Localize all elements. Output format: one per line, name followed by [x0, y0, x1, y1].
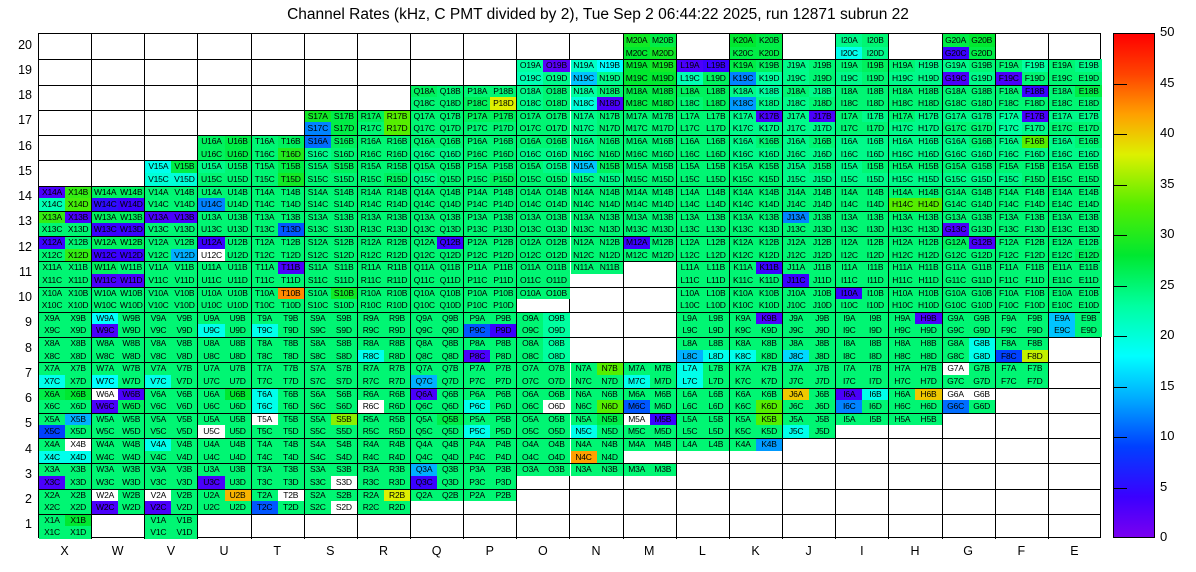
heatmap-quadrant[interactable]: L12A: [677, 236, 703, 249]
heatmap-quadrant[interactable]: H10D: [915, 299, 941, 312]
heatmap-quadrant[interactable]: [517, 47, 543, 60]
heatmap-quadrant[interactable]: I16B: [862, 135, 888, 148]
heatmap-quadrant[interactable]: K5C: [730, 425, 756, 438]
heatmap-quadrant[interactable]: [39, 135, 65, 148]
heatmap-quadrant[interactable]: [411, 59, 437, 72]
heatmap-quadrant[interactable]: [358, 72, 384, 85]
heatmap-quadrant[interactable]: W14B: [118, 186, 144, 199]
heatmap-quadrant[interactable]: [198, 85, 224, 98]
heatmap-quadrant[interactable]: H17A: [889, 110, 915, 123]
heatmap-cell[interactable]: W12AW12BW12CW12D: [92, 236, 145, 261]
heatmap-quadrant[interactable]: [225, 110, 251, 123]
heatmap-quadrant[interactable]: N18C: [571, 97, 597, 110]
heatmap-quadrant[interactable]: M7A: [624, 362, 650, 375]
heatmap-quadrant[interactable]: [331, 85, 357, 98]
heatmap-quadrant[interactable]: [490, 34, 516, 47]
heatmap-quadrant[interactable]: [1049, 526, 1076, 539]
heatmap-quadrant[interactable]: Q13C: [411, 223, 437, 236]
heatmap-quadrant[interactable]: O11C: [517, 274, 543, 287]
heatmap-quadrant[interactable]: X8C: [39, 350, 65, 363]
heatmap-quadrant[interactable]: P12A: [464, 236, 490, 249]
heatmap-cell[interactable]: K18AK18BK18CK18D: [730, 85, 783, 110]
heatmap-quadrant[interactable]: U6B: [225, 388, 251, 401]
heatmap-quadrant[interactable]: [1075, 526, 1102, 539]
heatmap-quadrant[interactable]: [862, 438, 888, 451]
heatmap-quadrant[interactable]: [118, 72, 144, 85]
heatmap-cell[interactable]: L7AL7BL7CL7D: [677, 362, 730, 387]
heatmap-quadrant[interactable]: [756, 501, 782, 514]
heatmap-quadrant[interactable]: [624, 451, 650, 464]
heatmap-quadrant[interactable]: Q9A: [411, 312, 437, 325]
heatmap-quadrant[interactable]: W9C: [92, 324, 118, 337]
heatmap-quadrant[interactable]: X12C: [39, 249, 65, 262]
heatmap-quadrant[interactable]: X2D: [65, 501, 91, 514]
heatmap-quadrant[interactable]: [996, 413, 1022, 426]
heatmap-quadrant[interactable]: W14A: [92, 186, 118, 199]
heatmap-cell[interactable]: [836, 438, 889, 463]
heatmap-quadrant[interactable]: W5B: [118, 413, 144, 426]
heatmap-quadrant[interactable]: [225, 85, 251, 98]
heatmap-quadrant[interactable]: P6B: [490, 388, 516, 401]
heatmap-quadrant[interactable]: [1049, 388, 1076, 401]
heatmap-quadrant[interactable]: U4A: [198, 438, 224, 451]
heatmap-cell[interactable]: [943, 463, 996, 488]
heatmap-quadrant[interactable]: Q3A: [411, 463, 437, 476]
heatmap-quadrant[interactable]: Q10A: [411, 287, 437, 300]
heatmap-cell[interactable]: F16AF16BF16CF16D: [996, 135, 1049, 160]
heatmap-cell[interactable]: K20AK20BK20CK20D: [730, 34, 783, 59]
heatmap-quadrant[interactable]: E17A: [1049, 110, 1076, 123]
heatmap-quadrant[interactable]: Q18B: [437, 85, 463, 98]
heatmap-quadrant[interactable]: F9D: [1022, 324, 1048, 337]
heatmap-quadrant[interactable]: [650, 514, 676, 527]
heatmap-quadrant[interactable]: R13A: [358, 211, 384, 224]
heatmap-quadrant[interactable]: O6B: [543, 388, 569, 401]
heatmap-quadrant[interactable]: Q9C: [411, 324, 437, 337]
heatmap-quadrant[interactable]: G11B: [969, 261, 995, 274]
heatmap-quadrant[interactable]: H5B: [915, 413, 941, 426]
heatmap-quadrant[interactable]: J14D: [809, 198, 835, 211]
heatmap-quadrant[interactable]: [809, 438, 835, 451]
heatmap-quadrant[interactable]: F19A: [996, 59, 1022, 72]
heatmap-quadrant[interactable]: K10C: [730, 299, 756, 312]
heatmap-cell[interactable]: [889, 34, 942, 59]
heatmap-quadrant[interactable]: [703, 489, 729, 502]
heatmap-quadrant[interactable]: E15D: [1075, 173, 1102, 186]
heatmap-cell[interactable]: J11AJ11BJ11CJ11D: [783, 261, 836, 286]
heatmap-quadrant[interactable]: V9B: [171, 312, 197, 325]
heatmap-quadrant[interactable]: K16D: [756, 148, 782, 161]
heatmap-quadrant[interactable]: H10A: [889, 287, 915, 300]
heatmap-cell[interactable]: [411, 34, 464, 59]
heatmap-quadrant[interactable]: E12C: [1049, 249, 1076, 262]
heatmap-quadrant[interactable]: V5A: [145, 413, 171, 426]
heatmap-quadrant[interactable]: [517, 476, 543, 489]
heatmap-quadrant[interactable]: [39, 47, 65, 60]
heatmap-quadrant[interactable]: N12B: [597, 236, 623, 249]
heatmap-quadrant[interactable]: O10B: [543, 287, 569, 300]
heatmap-quadrant[interactable]: H15A: [889, 160, 915, 173]
heatmap-quadrant[interactable]: [889, 514, 915, 527]
heatmap-quadrant[interactable]: W4C: [92, 451, 118, 464]
heatmap-cell[interactable]: L14AL14BL14CL14D: [677, 186, 730, 211]
heatmap-quadrant[interactable]: [809, 501, 835, 514]
heatmap-quadrant[interactable]: S17A: [305, 110, 331, 123]
heatmap-quadrant[interactable]: X10A: [39, 287, 65, 300]
heatmap-quadrant[interactable]: Q11C: [411, 274, 437, 287]
heatmap-quadrant[interactable]: U7C: [198, 375, 224, 388]
heatmap-quadrant[interactable]: H12B: [915, 236, 941, 249]
heatmap-quadrant[interactable]: E12D: [1075, 249, 1102, 262]
heatmap-quadrant[interactable]: T5D: [278, 425, 304, 438]
heatmap-quadrant[interactable]: X5D: [65, 425, 91, 438]
heatmap-quadrant[interactable]: P17D: [490, 122, 516, 135]
heatmap-quadrant[interactable]: [624, 287, 650, 300]
heatmap-quadrant[interactable]: [437, 59, 463, 72]
heatmap-quadrant[interactable]: T8D: [278, 350, 304, 363]
heatmap-cell[interactable]: I15AI15BI15CI15D: [836, 160, 889, 185]
heatmap-quadrant[interactable]: [118, 34, 144, 47]
heatmap-quadrant[interactable]: [650, 274, 676, 287]
heatmap-cell[interactable]: [252, 59, 305, 84]
heatmap-quadrant[interactable]: S6A: [305, 388, 331, 401]
heatmap-quadrant[interactable]: H17C: [889, 122, 915, 135]
heatmap-cell[interactable]: M19AM19BM19CM19D: [624, 59, 677, 84]
heatmap-quadrant[interactable]: T8B: [278, 337, 304, 350]
heatmap-quadrant[interactable]: Q7B: [437, 362, 463, 375]
heatmap-quadrant[interactable]: V11A: [145, 261, 171, 274]
heatmap-cell[interactable]: L18AL18BL18CL18D: [677, 85, 730, 110]
heatmap-quadrant[interactable]: E16C: [1049, 148, 1076, 161]
heatmap-quadrant[interactable]: I11D: [862, 274, 888, 287]
heatmap-quadrant[interactable]: M12C: [624, 249, 650, 262]
heatmap-quadrant[interactable]: V6C: [145, 400, 171, 413]
heatmap-quadrant[interactable]: G13C: [943, 223, 969, 236]
heatmap-quadrant[interactable]: U3A: [198, 463, 224, 476]
heatmap-quadrant[interactable]: M20A: [624, 34, 650, 47]
heatmap-quadrant[interactable]: N4D: [597, 451, 623, 464]
heatmap-quadrant[interactable]: E14A: [1049, 186, 1076, 199]
heatmap-quadrant[interactable]: N12A: [571, 236, 597, 249]
heatmap-quadrant[interactable]: [464, 34, 490, 47]
heatmap-quadrant[interactable]: N13C: [571, 223, 597, 236]
heatmap-quadrant[interactable]: U13A: [198, 211, 224, 224]
heatmap-quadrant[interactable]: [118, 59, 144, 72]
heatmap-quadrant[interactable]: M6C: [624, 400, 650, 413]
heatmap-quadrant[interactable]: X3D: [65, 476, 91, 489]
heatmap-quadrant[interactable]: M14B: [650, 186, 676, 199]
heatmap-cell[interactable]: [996, 388, 1049, 413]
heatmap-quadrant[interactable]: M20D: [650, 47, 676, 60]
heatmap-quadrant[interactable]: E10D: [1075, 299, 1102, 312]
heatmap-cell[interactable]: N11AN11B: [571, 261, 624, 286]
heatmap-quadrant[interactable]: I17C: [836, 122, 862, 135]
heatmap-quadrant[interactable]: Q15D: [437, 173, 463, 186]
heatmap-quadrant[interactable]: L15D: [703, 173, 729, 186]
heatmap-quadrant[interactable]: P16B: [490, 135, 516, 148]
heatmap-quadrant[interactable]: [996, 425, 1022, 438]
heatmap-quadrant[interactable]: J18B: [809, 85, 835, 98]
heatmap-quadrant[interactable]: V4B: [171, 438, 197, 451]
heatmap-quadrant[interactable]: V15A: [145, 160, 171, 173]
heatmap-cell[interactable]: L11AL11BL11CL11D: [677, 261, 730, 286]
heatmap-cell[interactable]: I10AI10BI10CI10D: [836, 287, 889, 312]
heatmap-quadrant[interactable]: H8B: [915, 337, 941, 350]
heatmap-cell[interactable]: [1049, 337, 1102, 362]
heatmap-cell[interactable]: O13AO13BO13CO13D: [517, 211, 570, 236]
heatmap-quadrant[interactable]: N18D: [597, 97, 623, 110]
heatmap-quadrant[interactable]: E18A: [1049, 85, 1076, 98]
heatmap-quadrant[interactable]: E10B: [1075, 287, 1102, 300]
heatmap-cell[interactable]: [1049, 362, 1102, 387]
heatmap-quadrant[interactable]: [118, 160, 144, 173]
heatmap-cell[interactable]: T7AT7BT7CT7D: [252, 362, 305, 387]
heatmap-cell[interactable]: Q14AQ14BQ14CQ14D: [411, 186, 464, 211]
heatmap-cell[interactable]: F17AF17BF17CF17D: [996, 110, 1049, 135]
heatmap-quadrant[interactable]: J19B: [809, 59, 835, 72]
heatmap-quadrant[interactable]: W7A: [92, 362, 118, 375]
heatmap-quadrant[interactable]: T9C: [252, 324, 278, 337]
heatmap-quadrant[interactable]: V6A: [145, 388, 171, 401]
heatmap-quadrant[interactable]: S14B: [331, 186, 357, 199]
heatmap-cell[interactable]: G7AG7BG7CG7D: [943, 362, 996, 387]
heatmap-quadrant[interactable]: [517, 501, 543, 514]
heatmap-quadrant[interactable]: K10B: [756, 287, 782, 300]
heatmap-quadrant[interactable]: I7C: [836, 375, 862, 388]
heatmap-quadrant[interactable]: Q14C: [411, 198, 437, 211]
heatmap-cell[interactable]: S10AS10BS10CS10D: [305, 287, 358, 312]
heatmap-quadrant[interactable]: [730, 463, 756, 476]
heatmap-quadrant[interactable]: V15C: [145, 173, 171, 186]
heatmap-quadrant[interactable]: L19C: [677, 72, 703, 85]
heatmap-quadrant[interactable]: R11A: [358, 261, 384, 274]
heatmap-cell[interactable]: H8AH8BH8CH8D: [889, 337, 942, 362]
heatmap-cell[interactable]: P12AP12BP12CP12D: [464, 236, 517, 261]
heatmap-quadrant[interactable]: L6D: [703, 400, 729, 413]
heatmap-quadrant[interactable]: E15A: [1049, 160, 1076, 173]
heatmap-quadrant[interactable]: U14A: [198, 186, 224, 199]
heatmap-quadrant[interactable]: X6C: [39, 400, 65, 413]
heatmap-cell[interactable]: W4AW4BW4CW4D: [92, 438, 145, 463]
heatmap-quadrant[interactable]: V8A: [145, 337, 171, 350]
heatmap-quadrant[interactable]: R2B: [384, 489, 410, 502]
heatmap-quadrant[interactable]: [650, 299, 676, 312]
heatmap-quadrant[interactable]: U15C: [198, 173, 224, 186]
heatmap-quadrant[interactable]: S5A: [305, 413, 331, 426]
heatmap-cell[interactable]: H13AH13BH13CH13D: [889, 211, 942, 236]
heatmap-quadrant[interactable]: U16D: [225, 148, 251, 161]
heatmap-quadrant[interactable]: [703, 514, 729, 527]
heatmap-cell[interactable]: R2AR2BR2CR2D: [358, 489, 411, 514]
heatmap-quadrant[interactable]: E11B: [1075, 261, 1102, 274]
heatmap-quadrant[interactable]: K13A: [730, 211, 756, 224]
heatmap-cell[interactable]: V5AV5BV5CV5D: [145, 413, 198, 438]
heatmap-quadrant[interactable]: J12B: [809, 236, 835, 249]
heatmap-cell[interactable]: [464, 34, 517, 59]
heatmap-quadrant[interactable]: [225, 514, 251, 527]
heatmap-quadrant[interactable]: L9B: [703, 312, 729, 325]
heatmap-cell[interactable]: N19AN19BN19CN19D: [571, 59, 624, 84]
heatmap-cell[interactable]: T4AT4BT4CT4D: [252, 438, 305, 463]
heatmap-quadrant[interactable]: P11A: [464, 261, 490, 274]
heatmap-quadrant[interactable]: [92, 160, 118, 173]
heatmap-quadrant[interactable]: K11A: [730, 261, 756, 274]
heatmap-quadrant[interactable]: P3B: [490, 463, 516, 476]
heatmap-quadrant[interactable]: M5D: [650, 425, 676, 438]
heatmap-cell[interactable]: P11AP11BP11CP11D: [464, 261, 517, 286]
heatmap-quadrant[interactable]: [783, 526, 809, 539]
heatmap-cell[interactable]: K10AK10BK10CK10D: [730, 287, 783, 312]
heatmap-quadrant[interactable]: K12D: [756, 249, 782, 262]
heatmap-quadrant[interactable]: [198, 72, 224, 85]
heatmap-quadrant[interactable]: N14C: [571, 198, 597, 211]
heatmap-quadrant[interactable]: [543, 47, 569, 60]
heatmap-quadrant[interactable]: H11D: [915, 274, 941, 287]
heatmap-quadrant[interactable]: P6A: [464, 388, 490, 401]
heatmap-cell[interactable]: V13AV13BV13CV13D: [145, 211, 198, 236]
heatmap-cell[interactable]: V3AV3BV3CV3D: [145, 463, 198, 488]
heatmap-quadrant[interactable]: [92, 97, 118, 110]
heatmap-cell[interactable]: G15AG15BG15CG15D: [943, 160, 996, 185]
heatmap-quadrant[interactable]: O17B: [543, 110, 569, 123]
heatmap-quadrant[interactable]: L10B: [703, 287, 729, 300]
heatmap-quadrant[interactable]: W6A: [92, 388, 118, 401]
heatmap-quadrant[interactable]: M18A: [624, 85, 650, 98]
heatmap-cell[interactable]: Q16AQ16BQ16CQ16D: [411, 135, 464, 160]
heatmap-quadrant[interactable]: I8C: [836, 350, 862, 363]
heatmap-quadrant[interactable]: J11A: [783, 261, 809, 274]
heatmap-quadrant[interactable]: Q6C: [411, 400, 437, 413]
heatmap-quadrant[interactable]: H15C: [889, 173, 915, 186]
heatmap-cell[interactable]: [305, 34, 358, 59]
heatmap-quadrant[interactable]: X4A: [39, 438, 65, 451]
heatmap-quadrant[interactable]: G19A: [943, 59, 969, 72]
heatmap-quadrant[interactable]: P16C: [464, 148, 490, 161]
heatmap-cell[interactable]: T14AT14BT14CT14D: [252, 186, 305, 211]
heatmap-quadrant[interactable]: R4C: [358, 451, 384, 464]
heatmap-cell[interactable]: V1AV1BV1CV1D: [145, 514, 198, 539]
heatmap-quadrant[interactable]: [1049, 501, 1076, 514]
heatmap-quadrant[interactable]: V8D: [171, 350, 197, 363]
heatmap-quadrant[interactable]: I18D: [862, 97, 888, 110]
heatmap-quadrant[interactable]: [809, 463, 835, 476]
heatmap-quadrant[interactable]: K17C: [730, 122, 756, 135]
heatmap-cell[interactable]: U9AU9BU9CU9D: [198, 312, 251, 337]
heatmap-cell[interactable]: U4AU4BU4CU4D: [198, 438, 251, 463]
heatmap-quadrant[interactable]: J8C: [783, 350, 809, 363]
heatmap-quadrant[interactable]: G9B: [969, 312, 995, 325]
heatmap-cell[interactable]: K13AK13BK13CK13D: [730, 211, 783, 236]
heatmap-quadrant[interactable]: O14D: [543, 198, 569, 211]
heatmap-cell[interactable]: [305, 514, 358, 539]
heatmap-quadrant[interactable]: Q10D: [437, 299, 463, 312]
heatmap-quadrant[interactable]: [92, 59, 118, 72]
heatmap-quadrant[interactable]: [1022, 400, 1048, 413]
heatmap-quadrant[interactable]: G7D: [969, 375, 995, 388]
heatmap-cell[interactable]: [39, 135, 92, 160]
heatmap-quadrant[interactable]: [171, 148, 197, 161]
heatmap-cell[interactable]: N15AN15BN15CN15D: [571, 160, 624, 185]
heatmap-quadrant[interactable]: F9C: [996, 324, 1022, 337]
heatmap-quadrant[interactable]: X9B: [65, 312, 91, 325]
heatmap-cell[interactable]: [783, 489, 836, 514]
heatmap-quadrant[interactable]: V10D: [171, 299, 197, 312]
heatmap-quadrant[interactable]: [411, 47, 437, 60]
heatmap-quadrant[interactable]: S15D: [331, 173, 357, 186]
heatmap-quadrant[interactable]: [384, 34, 410, 47]
heatmap-quadrant[interactable]: N17D: [597, 122, 623, 135]
heatmap-quadrant[interactable]: [756, 489, 782, 502]
heatmap-cell[interactable]: L10AL10BL10CL10D: [677, 287, 730, 312]
heatmap-cell[interactable]: F18AF18BF18CF18D: [996, 85, 1049, 110]
heatmap-quadrant[interactable]: L9C: [677, 324, 703, 337]
heatmap-cell[interactable]: Q2AQ2B: [411, 489, 464, 514]
heatmap-cell[interactable]: [624, 312, 677, 337]
heatmap-quadrant[interactable]: L7D: [703, 375, 729, 388]
heatmap-quadrant[interactable]: [624, 274, 650, 287]
heatmap-quadrant[interactable]: N12C: [571, 249, 597, 262]
heatmap-quadrant[interactable]: N11A: [571, 261, 597, 274]
heatmap-quadrant[interactable]: S6C: [305, 400, 331, 413]
heatmap-quadrant[interactable]: I19B: [862, 59, 888, 72]
heatmap-quadrant[interactable]: K18A: [730, 85, 756, 98]
heatmap-quadrant[interactable]: T9A: [252, 312, 278, 325]
heatmap-cell[interactable]: [358, 59, 411, 84]
heatmap-quadrant[interactable]: [1075, 476, 1102, 489]
heatmap-quadrant[interactable]: L6B: [703, 388, 729, 401]
heatmap-cell[interactable]: P14AP14BP14CP14D: [464, 186, 517, 211]
heatmap-quadrant[interactable]: [862, 425, 888, 438]
heatmap-quadrant[interactable]: [703, 526, 729, 539]
heatmap-quadrant[interactable]: K7B: [756, 362, 782, 375]
heatmap-quadrant[interactable]: T14A: [252, 186, 278, 199]
heatmap-quadrant[interactable]: W12A: [92, 236, 118, 249]
heatmap-quadrant[interactable]: [996, 501, 1022, 514]
heatmap-quadrant[interactable]: T6A: [252, 388, 278, 401]
heatmap-quadrant[interactable]: S4A: [305, 438, 331, 451]
heatmap-quadrant[interactable]: X6A: [39, 388, 65, 401]
heatmap-cell[interactable]: [252, 34, 305, 59]
heatmap-quadrant[interactable]: P15C: [464, 173, 490, 186]
heatmap-quadrant[interactable]: M19D: [650, 72, 676, 85]
heatmap-quadrant[interactable]: [1075, 362, 1102, 375]
heatmap-quadrant[interactable]: I16C: [836, 148, 862, 161]
heatmap-cell[interactable]: N16AN16BN16CN16D: [571, 135, 624, 160]
heatmap-quadrant[interactable]: H19C: [889, 72, 915, 85]
heatmap-cell[interactable]: F15AF15BF15CF15D: [996, 160, 1049, 185]
heatmap-quadrant[interactable]: O16A: [517, 135, 543, 148]
heatmap-quadrant[interactable]: O19A: [517, 59, 543, 72]
heatmap-quadrant[interactable]: I14B: [862, 186, 888, 199]
heatmap-cell[interactable]: [889, 463, 942, 488]
heatmap-quadrant[interactable]: E18D: [1075, 97, 1102, 110]
heatmap-quadrant[interactable]: [305, 47, 331, 60]
heatmap-quadrant[interactable]: L7A: [677, 362, 703, 375]
heatmap-quadrant[interactable]: G10D: [969, 299, 995, 312]
heatmap-quadrant[interactable]: H16B: [915, 135, 941, 148]
heatmap-quadrant[interactable]: P17A: [464, 110, 490, 123]
heatmap-cell[interactable]: W14AW14BW14CW14D: [92, 186, 145, 211]
heatmap-quadrant[interactable]: U8A: [198, 337, 224, 350]
heatmap-quadrant[interactable]: H8A: [889, 337, 915, 350]
heatmap-quadrant[interactable]: [969, 451, 995, 464]
heatmap-cell[interactable]: X9AX9BX9CX9D: [39, 312, 92, 337]
heatmap-quadrant[interactable]: X5C: [39, 425, 65, 438]
heatmap-quadrant[interactable]: H9C: [889, 324, 915, 337]
heatmap-quadrant[interactable]: [358, 514, 384, 527]
heatmap-cell[interactable]: T11AT11BT11CT11D: [252, 261, 305, 286]
heatmap-quadrant[interactable]: K18D: [756, 97, 782, 110]
